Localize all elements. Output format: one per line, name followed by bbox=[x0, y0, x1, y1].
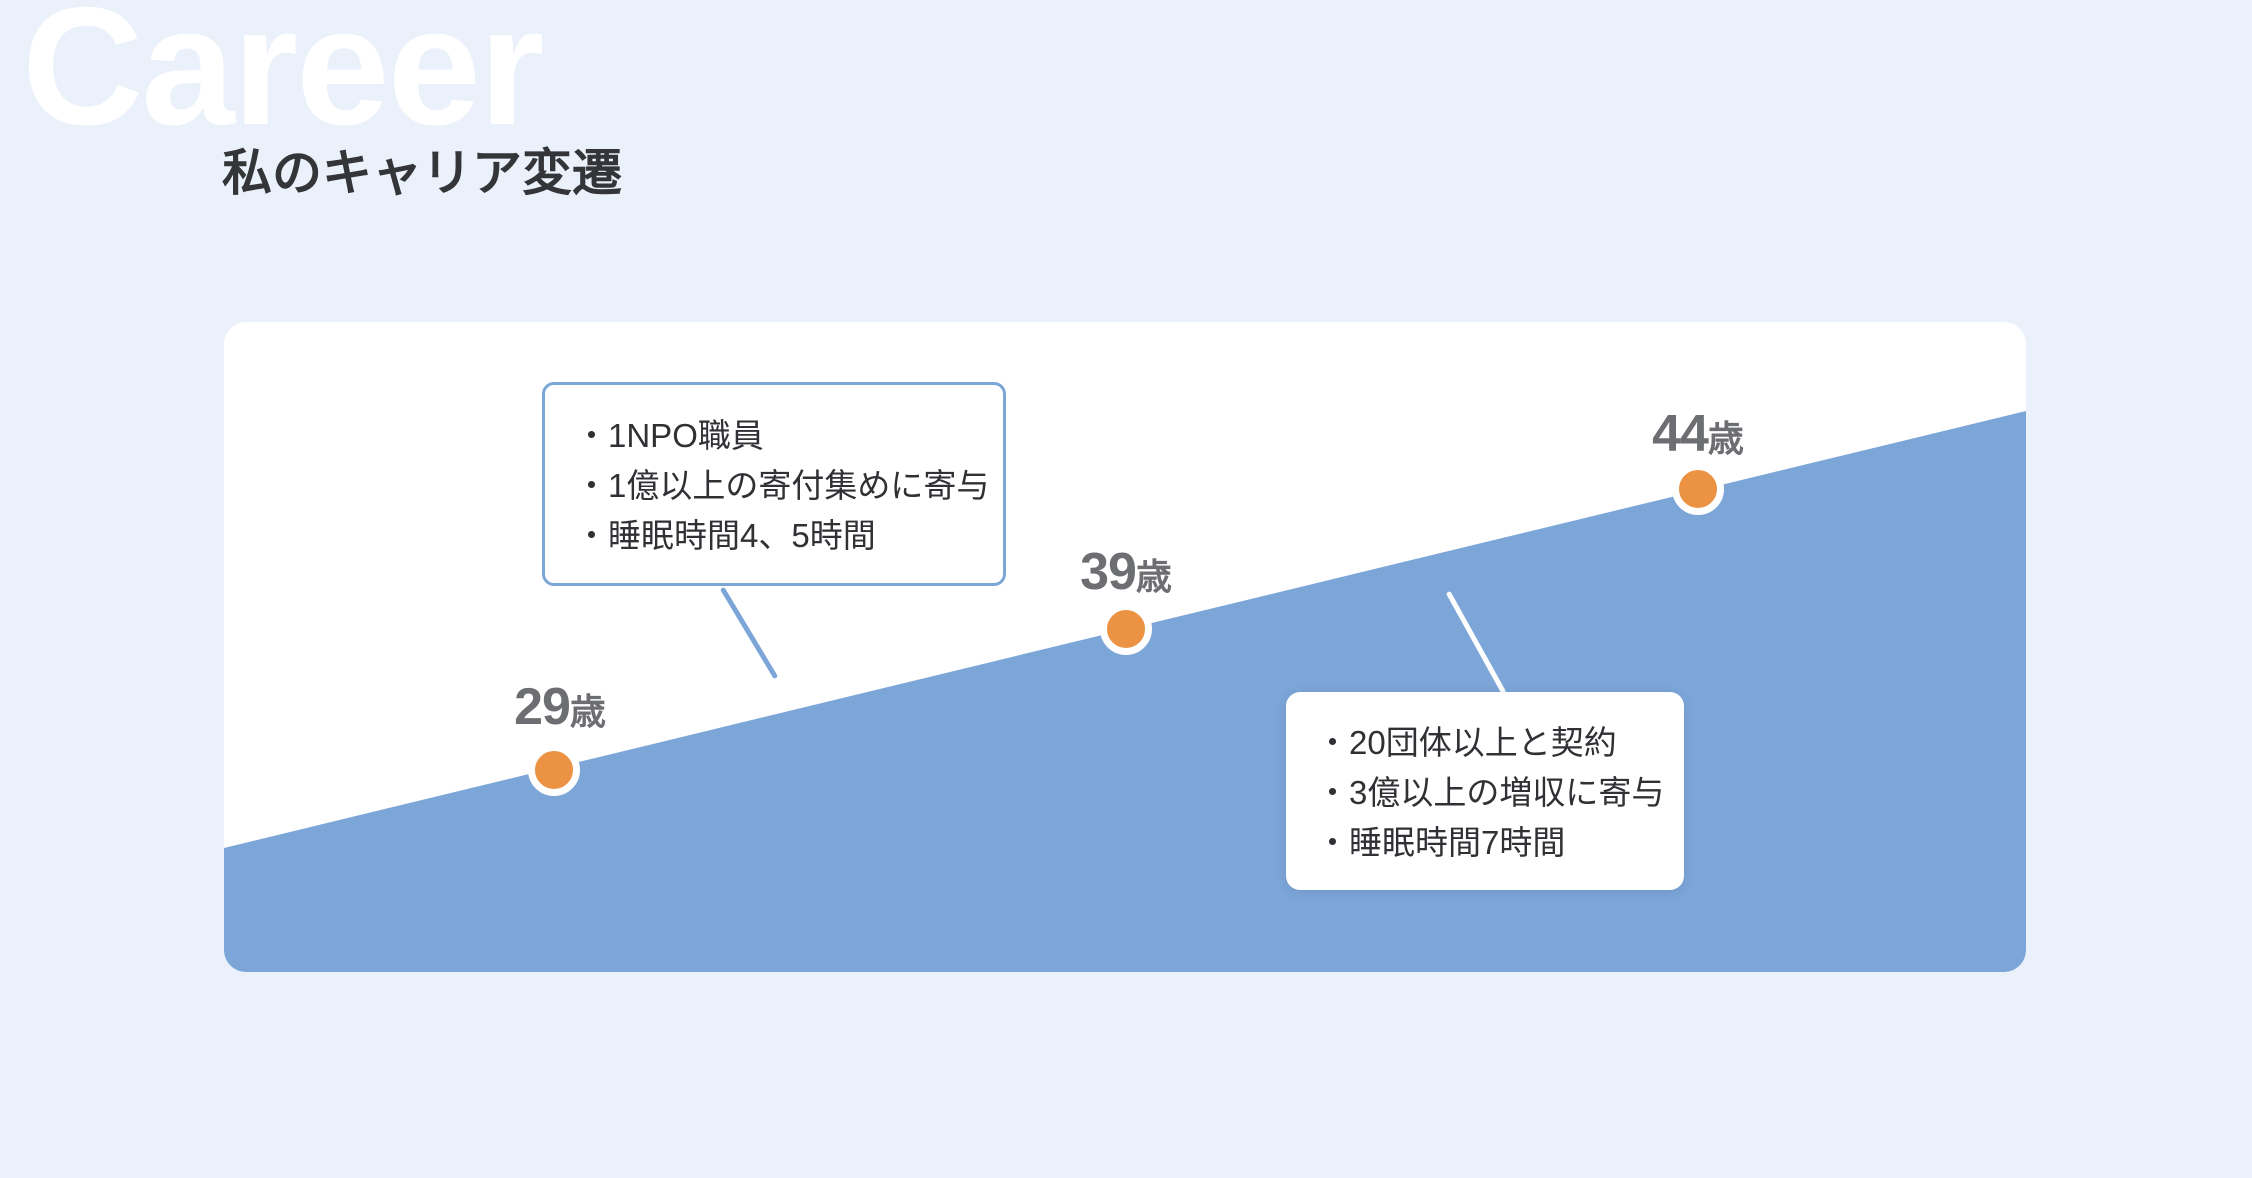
callout-box-44-line-2: ・3億以上の増収に寄与 bbox=[1316, 768, 1654, 818]
marker-label-39-unit: 歳 bbox=[1136, 556, 1172, 597]
callout-box-29-line-2: ・1億以上の寄付集めに寄与 bbox=[575, 461, 973, 511]
callout-box-29-line-3: ・睡眠時間4、5時間 bbox=[575, 511, 973, 561]
slide-canvas: Career 私のキャリア変遷 29歳 39歳 44歳 ・1NPO職員 ・1億以… bbox=[0, 0, 2252, 1178]
marker-label-29-unit: 歳 bbox=[570, 691, 606, 732]
callout-box-44-line-3: ・睡眠時間7時間 bbox=[1316, 818, 1654, 868]
marker-label-39-number: 39 bbox=[1080, 543, 1136, 601]
marker-label-29-number: 29 bbox=[514, 678, 570, 736]
area-fill-polygon bbox=[224, 411, 2026, 972]
marker-dot-39[interactable] bbox=[1100, 603, 1152, 655]
marker-dot-29[interactable] bbox=[528, 744, 580, 796]
callout-box-29-line-1: ・1NPO職員 bbox=[575, 411, 973, 461]
marker-label-29: 29歳 bbox=[514, 681, 606, 733]
marker-label-44: 44歳 bbox=[1652, 408, 1744, 460]
page-watermark-title: Career bbox=[22, 0, 542, 150]
marker-label-39: 39歳 bbox=[1080, 546, 1172, 598]
callout-box-29[interactable]: ・1NPO職員 ・1億以上の寄付集めに寄与 ・睡眠時間4、5時間 bbox=[542, 382, 1006, 586]
page-subtitle: 私のキャリア変遷 bbox=[222, 148, 622, 198]
marker-label-44-number: 44 bbox=[1652, 405, 1708, 463]
callout-box-44[interactable]: ・20団体以上と契約 ・3億以上の増収に寄与 ・睡眠時間7時間 bbox=[1286, 692, 1684, 890]
marker-label-44-unit: 歳 bbox=[1708, 418, 1744, 459]
callout-box-44-line-1: ・20団体以上と契約 bbox=[1316, 718, 1654, 768]
marker-dot-44[interactable] bbox=[1672, 463, 1724, 515]
